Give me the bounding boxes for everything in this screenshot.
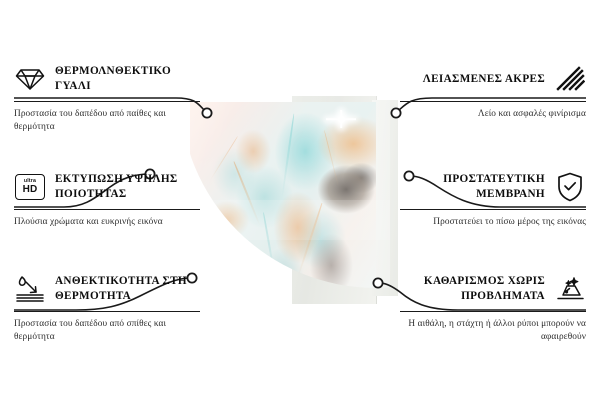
feature-description: Προστασία του δαπέδου από σπίθες και θερ…: [14, 318, 200, 345]
marble-artwork: [190, 102, 376, 292]
feature-header: ultra HD ΕΚΤΥΠΩΣΗ ΥΨΗΛΗΣ ΠΟΙΟΤΗΤΑΣ: [14, 170, 200, 204]
feature-title: ΑΝΘΕΚΤΙΚΟΤΗΤΑ ΣΤΗ ΘΕΡΜΟΤΗΤΑ: [55, 274, 200, 304]
feature-title: ΠΡΟΣΤΑΤΕΥΤΙΚΗ ΜΕΜΒΡΑΝΗ: [400, 172, 545, 202]
sponge-sparkle-icon: [554, 274, 586, 304]
feature-description: Πλούσια χρώματα και ευκρινής εικόνα: [14, 216, 200, 229]
ultra-hd-badge-icon: ultra HD: [14, 172, 46, 202]
feature-description: Προστατεύει το πίσω μέρος της εικόνας: [400, 216, 586, 229]
diamond-icon: [14, 64, 46, 94]
feature-divider: [400, 209, 586, 210]
glass-panel-clip: [180, 88, 390, 318]
art-vein: [263, 213, 276, 276]
art-vein: [324, 129, 340, 188]
feature-title: ΚΑΘΑΡΙΣΜΟΣ ΧΩΡΙΣ ΠΡΟΒΛΗΜΑΤΑ: [400, 274, 545, 304]
art-vein: [281, 114, 295, 199]
feature-header: ΛΕΙΑΣΜΕΝΕΣ ΑΚΡΕΣ: [400, 62, 586, 96]
feature-header: ΚΑΘΑΡΙΣΜΟΣ ΧΩΡΙΣ ΠΡΟΒΛΗΜΑΤΑ: [400, 272, 586, 306]
art-vein: [209, 136, 239, 182]
feature-easy-cleaning[interactable]: ΚΑΘΑΡΙΣΜΟΣ ΧΩΡΙΣ ΠΡΟΒΛΗΜΑΤΑ Η αιθάλη, η …: [400, 272, 586, 345]
feature-header: ΘΕΡΜΟΛΝΘΕΚΤΙΚΟ ΓΥΑΛΙ: [14, 62, 200, 96]
feature-title: ΕΚΤΥΠΩΣΗ ΥΨΗΛΗΣ ΠΟΙΟΤΗΤΑΣ: [55, 172, 200, 202]
feature-description: Προστασία του δαπέδου από παίθες και θερ…: [14, 108, 200, 135]
art-vein: [297, 202, 323, 277]
feature-description: Λείο και ασφαλές φινίρισμα: [400, 108, 586, 121]
flame-deflect-icon: [14, 274, 46, 304]
feature-header: ΑΝΘΕΚΤΙΚΟΤΗΤΑ ΣΤΗ ΘΕΡΜΟΤΗΤΑ: [14, 272, 200, 306]
feature-divider: [14, 101, 200, 102]
feature-header: ΠΡΟΣΤΑΤΕΥΤΙΚΗ ΜΕΜΒΡΑΝΗ: [400, 170, 586, 204]
feature-divider: [14, 209, 200, 210]
feature-protective-membrane[interactable]: ΠΡΟΣΤΑΤΕΥΤΙΚΗ ΜΕΜΒΡΑΝΗ Προστατεύει το πί…: [400, 170, 586, 229]
feature-title: ΛΕΙΑΣΜΕΝΕΣ ΑΚΡΕΣ: [400, 72, 545, 87]
product-image: [180, 88, 415, 318]
feature-heat-resistant-glass[interactable]: ΘΕΡΜΟΛΝΘΕΚΤΙΚΟ ΓΥΑΛΙ Προστασία του δαπέδ…: [14, 62, 200, 135]
feature-divider: [400, 101, 586, 102]
hatched-triangle-icon: [554, 64, 586, 94]
feature-polished-edges[interactable]: ΛΕΙΑΣΜΕΝΕΣ ΑΚΡΕΣ Λείο και ασφαλές φινίρι…: [400, 62, 586, 121]
shield-check-icon: [554, 172, 586, 202]
feature-divider: [400, 311, 586, 312]
feature-high-quality-print[interactable]: ultra HD ΕΚΤΥΠΩΣΗ ΥΨΗΛΗΣ ΠΟΙΟΤΗΤΑΣ Πλούσ…: [14, 170, 200, 229]
feature-heat-durability[interactable]: ΑΝΘΕΚΤΙΚΟΤΗΤΑ ΣΤΗ ΘΕΡΜΟΤΗΤΑ Προστασία το…: [14, 272, 200, 345]
hd-badge-large-text: HD: [23, 185, 38, 195]
infographic-canvas: ΘΕΡΜΟΛΝΘΕΚΤΙΚΟ ΓΥΑΛΙ Προστασία του δαπέδ…: [0, 0, 600, 400]
feature-title: ΘΕΡΜΟΛΝΘΕΚΤΙΚΟ ΓΥΑΛΙ: [55, 64, 200, 94]
feature-divider: [14, 311, 200, 312]
art-vein: [233, 161, 261, 226]
feature-description: Η αιθάλη, η στάχτη ή άλλοι ρύποι μπορούν…: [400, 318, 586, 345]
